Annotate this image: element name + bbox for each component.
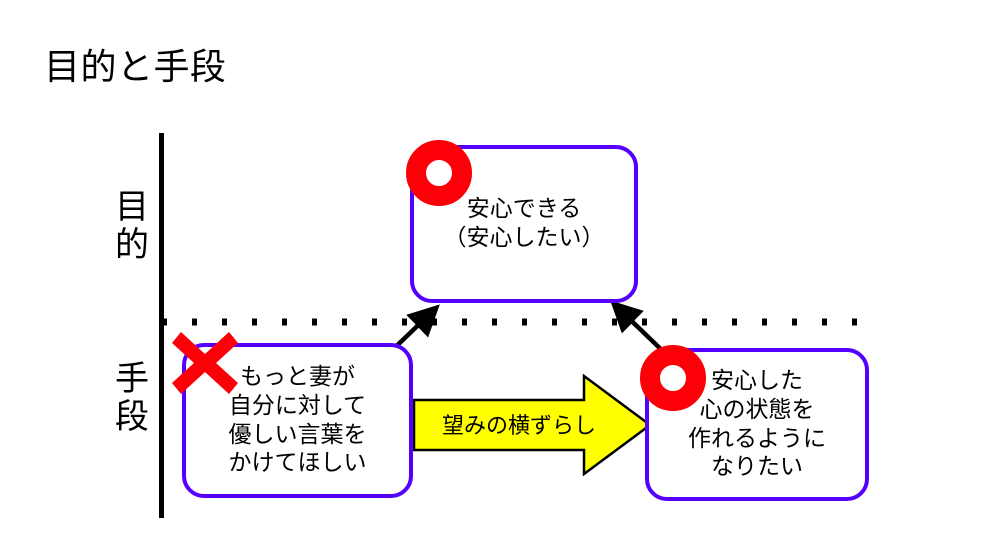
axis-label-means: 手段: [104, 360, 160, 436]
page-title: 目的と手段: [44, 48, 227, 88]
diagram-canvas: 目的と手段 目的 手段 望みの横ずらし 安心できる （安心したい） もっと妻が …: [0, 0, 994, 557]
axis-label-purpose: 目的: [104, 188, 160, 264]
shift-arrow-label: 望みの横ずらし: [424, 408, 614, 440]
circle-ok-marker-icon: [640, 345, 706, 411]
cross-ng-marker-icon: [170, 330, 240, 396]
circle-ok-marker-icon: [406, 140, 472, 206]
axis-divider-dotted-line: [160, 318, 876, 326]
node-box-means-current-text: もっと妻が 自分に対して 優しい言葉を かけてほしい: [223, 363, 373, 479]
node-box-purpose-text: 安心できる （安心したい）: [438, 195, 611, 253]
